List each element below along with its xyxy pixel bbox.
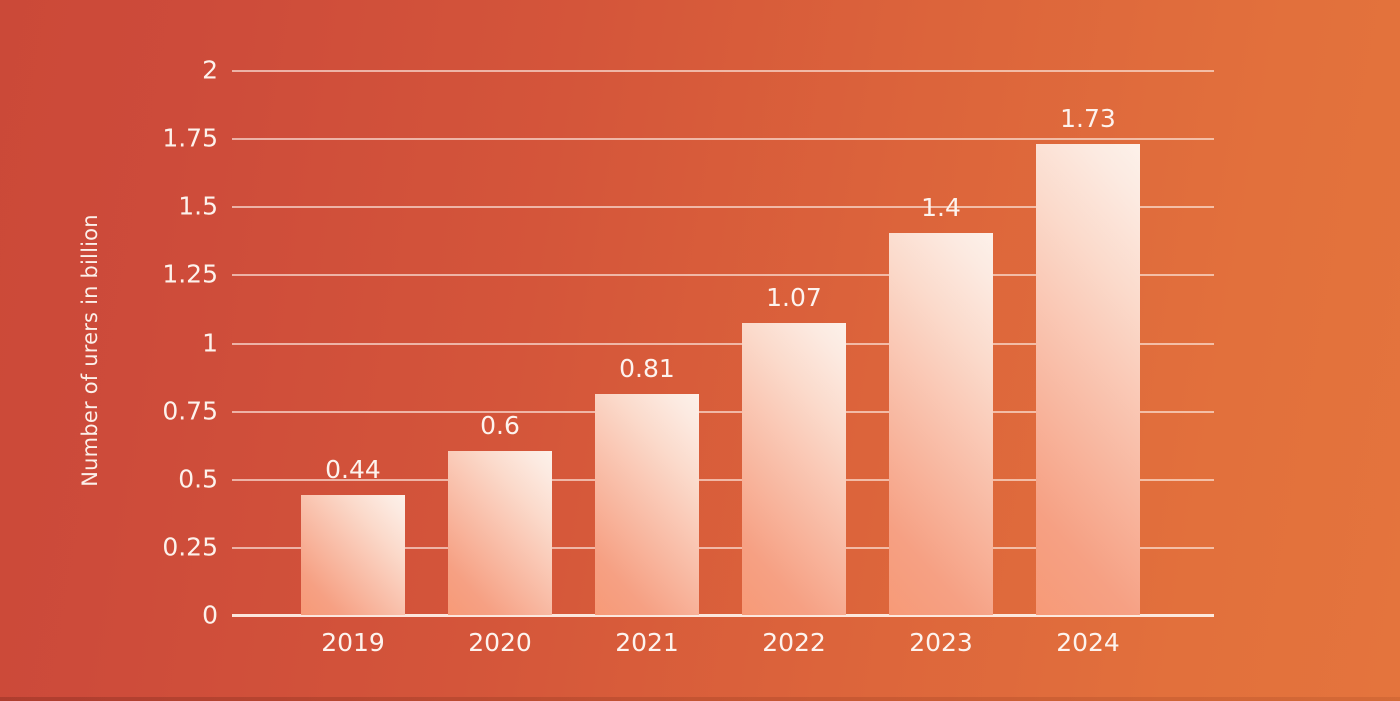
bar-2022[interactable] [742,323,846,615]
plot-area: 2 1.75 1.5 1.25 1 0.75 0.5 0.25 0 0.44 0… [232,70,1214,615]
x-tick-label-2019: 2019 [301,628,405,657]
bar-value-2021: 0.81 [555,354,739,383]
bar-value-2019: 0.44 [261,455,445,484]
bar-group-2023[interactable]: 1.4 [889,70,993,615]
bar-2023[interactable] [889,233,993,615]
bar-value-2023: 1.4 [849,193,1033,222]
bottom-edge-line [0,697,1400,701]
x-tick-label-2023: 2023 [889,628,993,657]
bar-group-2024[interactable]: 1.73 [1036,70,1140,615]
y-tick-label-0_75: 0.75 [0,397,218,426]
bar-value-2024: 1.73 [996,104,1180,133]
bar-group-2022[interactable]: 1.07 [742,70,846,615]
y-tick-label-1: 1 [0,329,218,358]
x-axis-labels: 2019 2020 2021 2022 2023 2024 [232,628,1214,668]
y-tick-label-1_5: 1.5 [0,192,218,221]
y-tick-label-1_25: 1.25 [0,260,218,289]
bar-2024[interactable] [1036,144,1140,615]
y-tick-label-0: 0 [0,601,218,630]
bar-group-2020[interactable]: 0.6 [448,70,552,615]
bar-value-2022: 1.07 [702,283,886,312]
bar-group-2019[interactable]: 0.44 [301,70,405,615]
bar-chart: Number of urers in billion 2 1.75 1.5 1.… [0,0,1400,701]
x-tick-label-2021: 2021 [595,628,699,657]
y-tick-label-0_25: 0.25 [0,533,218,562]
y-tick-label-2: 2 [0,56,218,85]
bar-series: 0.44 0.6 0.81 1.07 1.4 1.73 [232,70,1214,615]
bar-value-2020: 0.6 [408,411,592,440]
y-tick-label-1_75: 1.75 [0,124,218,153]
y-tick-label-0_5: 0.5 [0,465,218,494]
x-tick-label-2024: 2024 [1036,628,1140,657]
bar-2021[interactable] [595,394,699,615]
bar-group-2021[interactable]: 0.81 [595,70,699,615]
x-tick-label-2020: 2020 [448,628,552,657]
bar-2019[interactable] [301,495,405,615]
x-tick-label-2022: 2022 [742,628,846,657]
bar-2020[interactable] [448,451,552,615]
